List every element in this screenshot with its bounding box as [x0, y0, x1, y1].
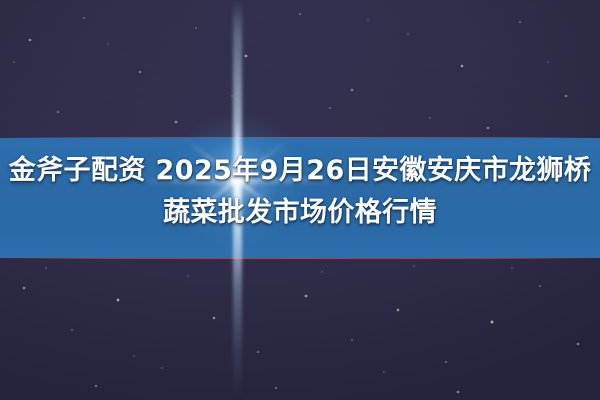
headline-text: 金斧子配资 2025年9月26日安徽安庆市龙狮桥 蔬菜批发市场价格行情 — [0, 150, 600, 234]
headline-line-2: 蔬菜批发市场价格行情 — [0, 192, 600, 234]
headline-line-1: 金斧子配资 2025年9月26日安徽安庆市龙狮桥 — [0, 150, 600, 192]
band-seam-bottom — [0, 258, 600, 259]
banner-image: 金斧子配资 2025年9月26日安徽安庆市龙狮桥 蔬菜批发市场价格行情 — [0, 0, 600, 400]
